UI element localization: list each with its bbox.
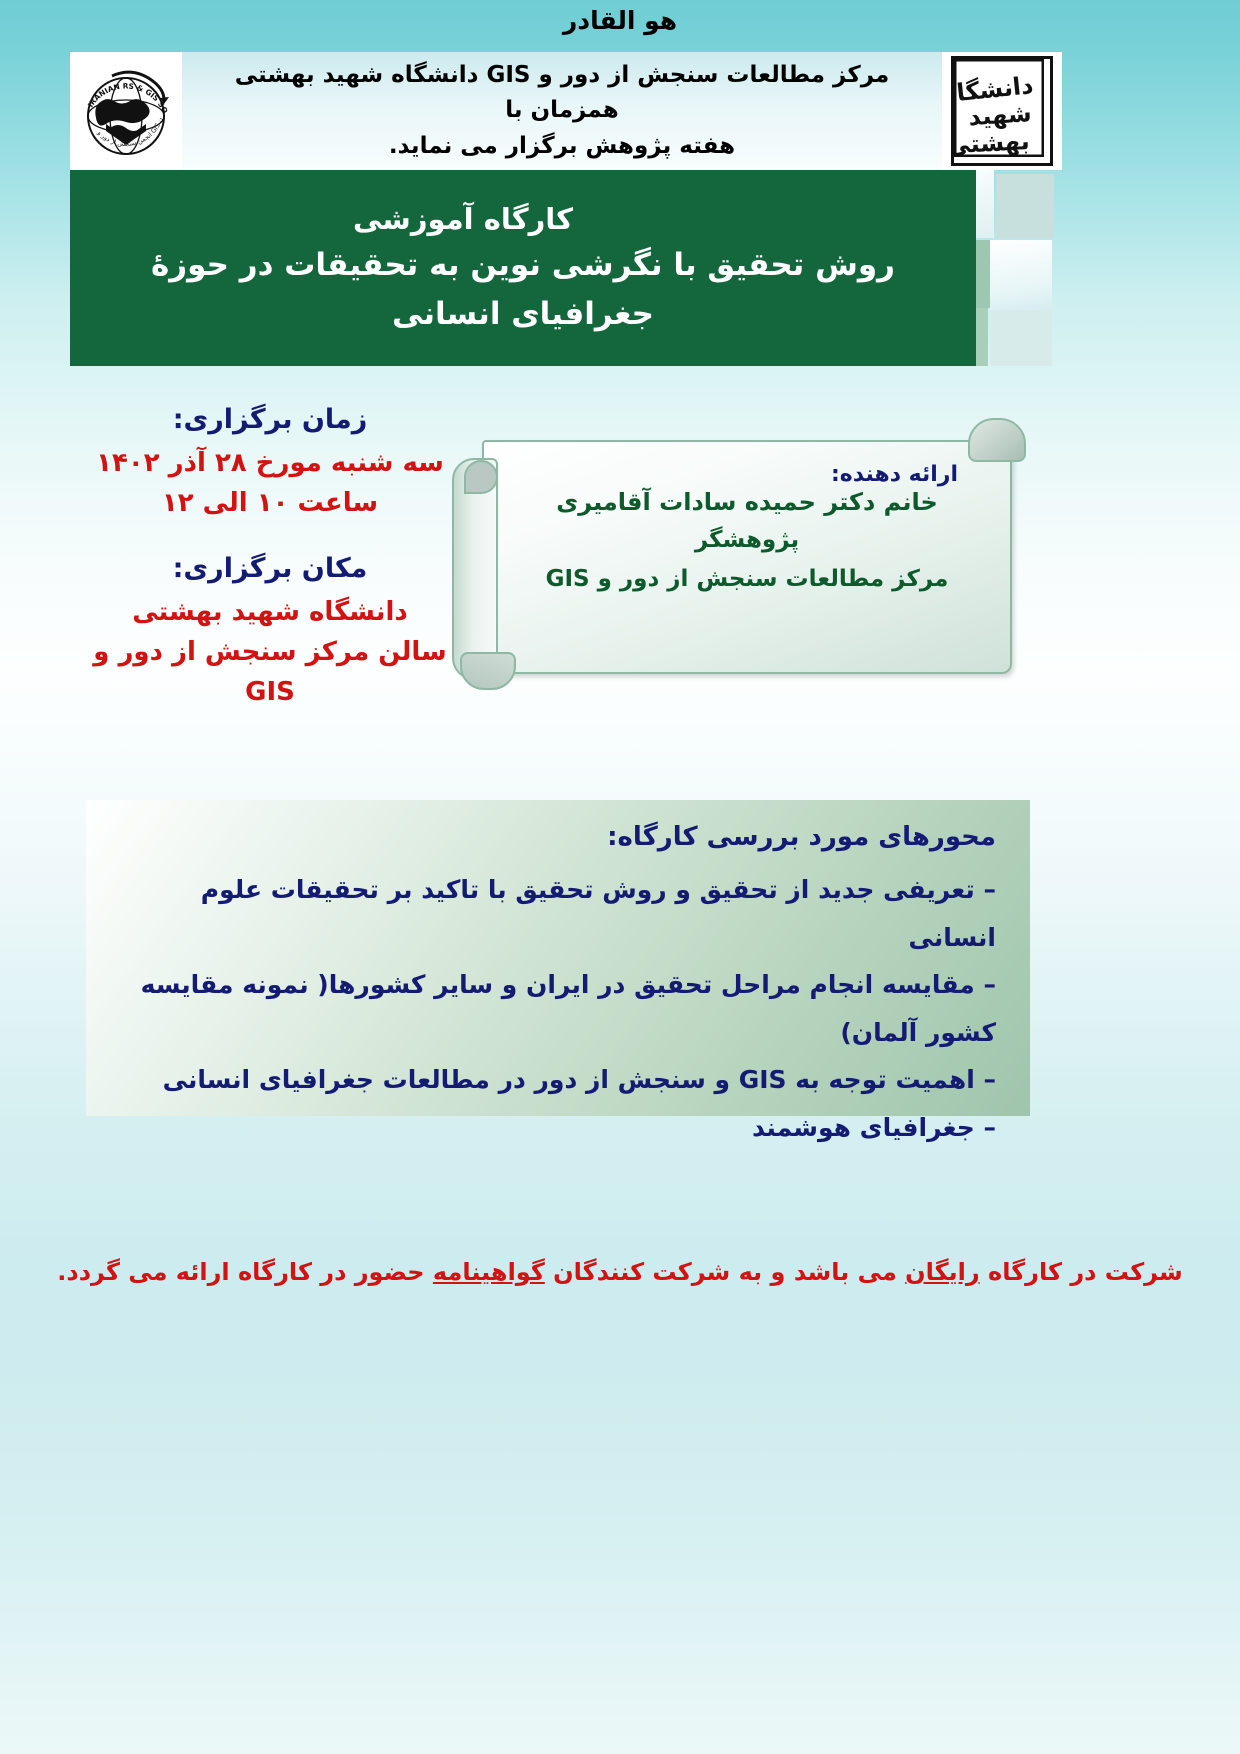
topic-item: – اهمیت توجه به GIS و سنجش از دور در مطا… [112,1056,996,1104]
presenter-info: ارائه دهنده: خانم دکتر حمیده سادات آقامی… [512,462,982,600]
basmala-text: هو القادر [0,6,1240,35]
topics-box: محورهای مورد بررسی کارگاه: – تعریفی جدید… [86,800,1030,1116]
event-hours: ساعت ۱۰ الی ۱۲ [90,483,450,523]
header-band: IRANIAN RS & GIS SOCIETY انجمن سنجش از د… [70,52,1062,170]
svg-text:بهشتی: بهشتی [954,127,1030,157]
poster-root: هو القادر I [0,0,1240,1754]
shahid-beheshti-university-logo: دانشگاه شهید بهشتی [951,56,1053,166]
scroll-curl-top-right [968,418,1026,462]
decorative-square [996,174,1054,238]
footer-part-3: حضور در کارگاه ارائه می گردد. [57,1258,433,1286]
event-date: سه شنبه مورخ ۲۸ آذر ۱۴۰۲ [90,443,450,483]
left-logo-container: IRANIAN RS & GIS SOCIETY انجمن سنجش از د… [70,52,182,170]
time-label: زمان برگزاری: [90,400,450,441]
workshop-title-line-1: روش تحقیق با نگرشی نوین به تحقیقات در حو… [70,243,976,288]
registration-note: شرکت در کارگاه رایگان می باشد و به شرکت … [0,1258,1240,1286]
topics-title: محورهای مورد بررسی کارگاه: [112,822,996,852]
header-line-1: مرکز مطالعات سنجش از دور و GIS دانشگاه ش… [192,58,932,129]
decorative-square [990,310,1052,366]
event-place-line-1: دانشگاه شهید بهشتی [90,592,450,632]
footer-highlight-free: رایگان [905,1258,980,1286]
presenter-affiliation: مرکز مطالعات سنجش از دور و GIS [512,560,982,599]
presenter-name: خانم دکتر حمیده سادات آقامیری [512,483,982,521]
spacer [90,523,450,549]
topic-item: – جغرافیای هوشمند [112,1104,996,1152]
presenter-role: پژوهشگر [512,521,982,560]
presenter-scroll: ارائه دهنده: خانم دکتر حمیده سادات آقامی… [452,432,1026,678]
right-logo-container: دانشگاه شهید بهشتی [942,52,1062,170]
header-line-2: هفته پژوهش برگزار می نماید. [389,129,735,165]
workshop-title-banner: کارگاه آموزشی روش تحقیق با نگرشی نوین به… [70,170,976,366]
workshop-title-line-2: جغرافیای انسانی [70,292,976,337]
scroll-curl-bottom-left [460,652,516,690]
topic-item: – تعریفی جدید از تحقیق و روش تحقیق با تا… [112,866,996,961]
header-announcement: مرکز مطالعات سنجش از دور و GIS دانشگاه ش… [182,52,942,170]
scroll-curl-knob [464,460,498,494]
topic-item: – مقایسه انجام مراحل تحقیق در ایران و سا… [112,961,996,1056]
footer-part-2: می باشد و به شرکت کنندگان [545,1258,905,1286]
event-place-line-2: سالن مرکز سنجش از دور و GIS [90,632,450,713]
place-label: مکان برگزاری: [90,549,450,590]
iranian-rs-gis-society-logo: IRANIAN RS & GIS SOCIETY انجمن سنجش از د… [76,58,176,164]
footer-part-1: شرکت در کارگاه [980,1258,1183,1286]
footer-highlight-certificate: گواهینامه [433,1258,545,1286]
decorative-square [990,240,1052,310]
event-details: زمان برگزاری: سه شنبه مورخ ۲۸ آذر ۱۴۰۲ س… [90,400,450,712]
workshop-kicker: کارگاه آموزشی [70,199,976,240]
